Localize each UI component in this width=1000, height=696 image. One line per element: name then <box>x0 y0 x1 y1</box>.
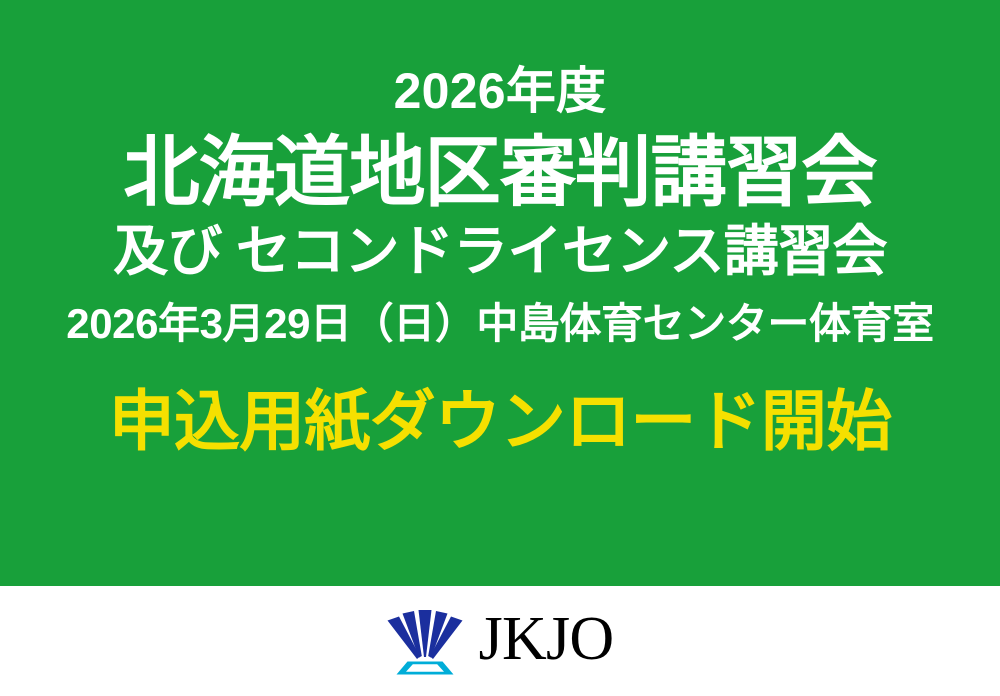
jkjo-announcement-banner: 2026年度 北海道地区審判講習会 及びセコンドライセンス講習会 2026年3月… <box>0 0 1000 696</box>
date-venue-text: 2026年3月29日（日）中島体育センター体育室 <box>0 303 1000 345</box>
page-title: 北海道地区審判講習会 <box>5 135 995 212</box>
year-label: 2026年度 <box>0 66 1000 116</box>
jkjo-logo: JKJO <box>387 606 614 676</box>
subtitle-main: セコンドライセンス講習会 <box>236 220 887 282</box>
jkjo-wordmark: JKJO <box>479 608 614 674</box>
subtitle: 及びセコンドライセンス講習会 <box>0 224 1000 279</box>
footer-bar: JKJO <box>0 586 1000 696</box>
hero-panel: 2026年度 北海道地区審判講習会 及びセコンドライセンス講習会 2026年3月… <box>0 0 1000 586</box>
jkjo-fan-icon <box>387 606 463 676</box>
download-call-to-action[interactable]: 申込用紙ダウンロード開始 <box>0 388 1000 454</box>
subtitle-prefix: 及び <box>113 220 222 282</box>
